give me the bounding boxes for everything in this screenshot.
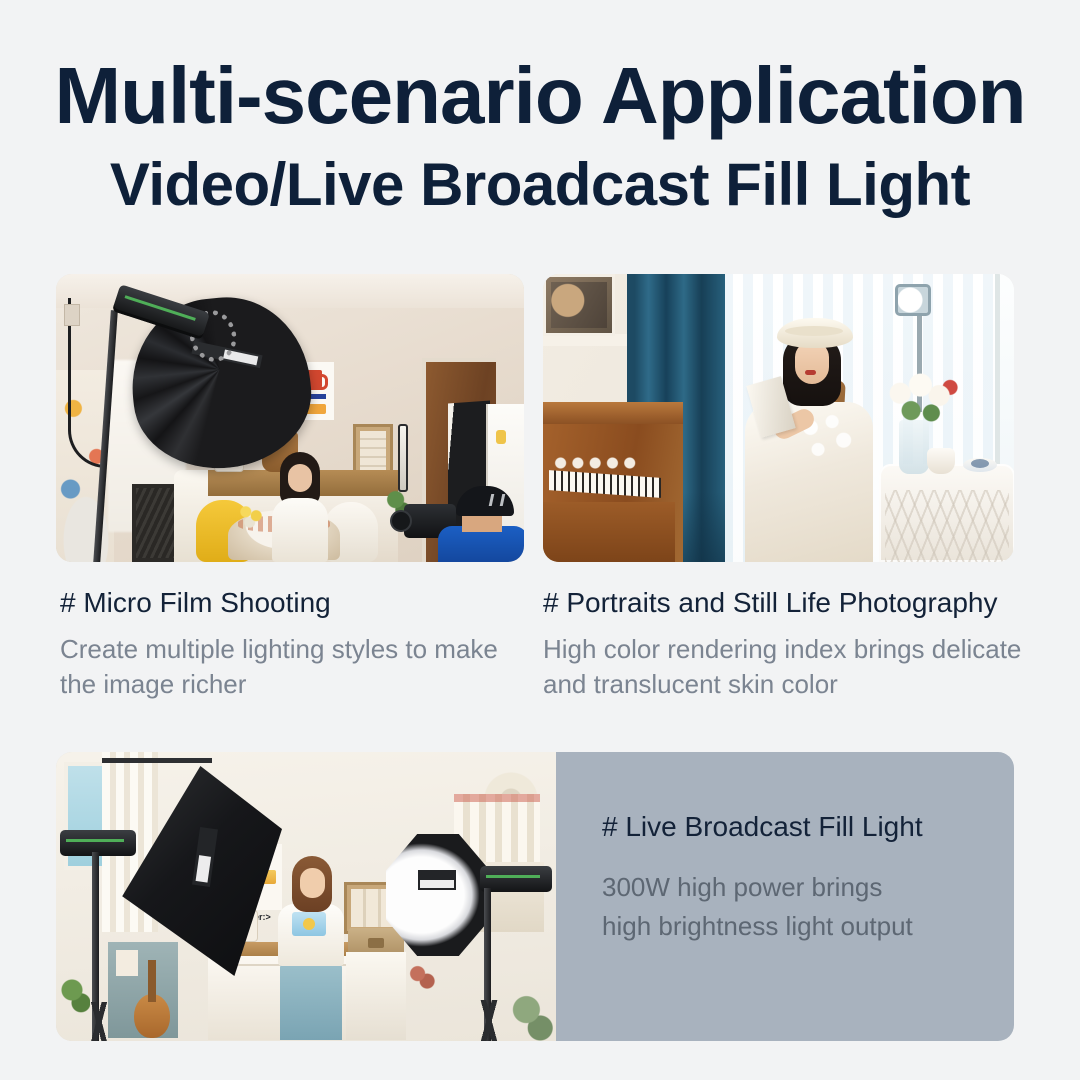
model-face	[288, 464, 312, 492]
curtain-rod	[102, 758, 212, 763]
live-broadcast-text-panel: # Live Broadcast Fill Light 300W high po…	[556, 752, 1014, 1041]
tripod-legs-left	[70, 1002, 128, 1041]
flower-vase	[238, 504, 264, 530]
panel-body-line-1: 300W high power brings	[602, 868, 1014, 907]
caption-heading: # Portraits and Still Life Photography	[543, 586, 1063, 620]
net-bag-produce	[404, 960, 438, 994]
fresnel-lamp-head	[895, 284, 931, 316]
live-host	[272, 856, 350, 1040]
wall-outlet	[64, 304, 80, 326]
caption-portrait: # Portraits and Still Life Photography H…	[543, 586, 1063, 702]
hat-band	[785, 326, 843, 336]
baseball-cap	[456, 486, 514, 516]
parabolic-softbox	[114, 288, 310, 468]
model-lips	[805, 370, 816, 375]
held-product	[292, 912, 326, 936]
harmonium	[543, 402, 683, 562]
tripod-legs-right	[460, 1000, 518, 1041]
harmonium-stops	[551, 456, 647, 470]
model-dress	[272, 498, 328, 562]
photo-micro-film-shooting: Butter:>	[56, 274, 524, 562]
caption-micro-film: # Micro Film Shooting Create multiple li…	[60, 586, 530, 702]
panel-body: 300W high power brings high brightness l…	[602, 868, 1014, 946]
caption-body: Create multiple lighting styles to make …	[60, 632, 530, 702]
photo-live-broadcast: Butter:>	[56, 752, 556, 1041]
page-subtitle: Video/Live Broadcast Fill Light	[0, 155, 1080, 215]
cap-logo	[489, 494, 506, 506]
panel-body-line-2: high brightness light output	[602, 907, 1014, 946]
caption-body: High color rendering index brings delica…	[543, 632, 1063, 702]
lace-side-table	[879, 464, 1014, 562]
live-broadcast-card: Butter:>	[56, 752, 1014, 1041]
host-skirt	[280, 962, 342, 1040]
panel-heading: # Live Broadcast Fill Light	[602, 810, 1014, 844]
harmonium-keys	[549, 470, 661, 498]
harmonium-front	[543, 502, 675, 562]
draped-cloth	[346, 952, 406, 1040]
photo-portraits-still-life	[543, 274, 1014, 562]
fresnel-light	[895, 284, 945, 318]
harmonium-top	[543, 402, 683, 424]
glass-vase	[899, 420, 929, 474]
softbox-brand-label-right	[418, 870, 456, 890]
page-title: Multi-scenario Application	[0, 56, 1080, 136]
model-face	[795, 342, 829, 384]
framed-painting	[543, 274, 615, 336]
ukulele-neck	[148, 960, 156, 1002]
model-seated	[268, 452, 330, 562]
host-face	[300, 868, 325, 898]
saucer	[963, 458, 997, 472]
rose-bouquet	[883, 370, 961, 428]
videographer	[404, 480, 524, 562]
model-portrait	[739, 318, 875, 562]
camera-lens	[390, 510, 412, 532]
ceramic-cup	[927, 448, 955, 474]
caption-heading: # Micro Film Shooting	[60, 586, 530, 620]
ukulele	[134, 960, 170, 1038]
